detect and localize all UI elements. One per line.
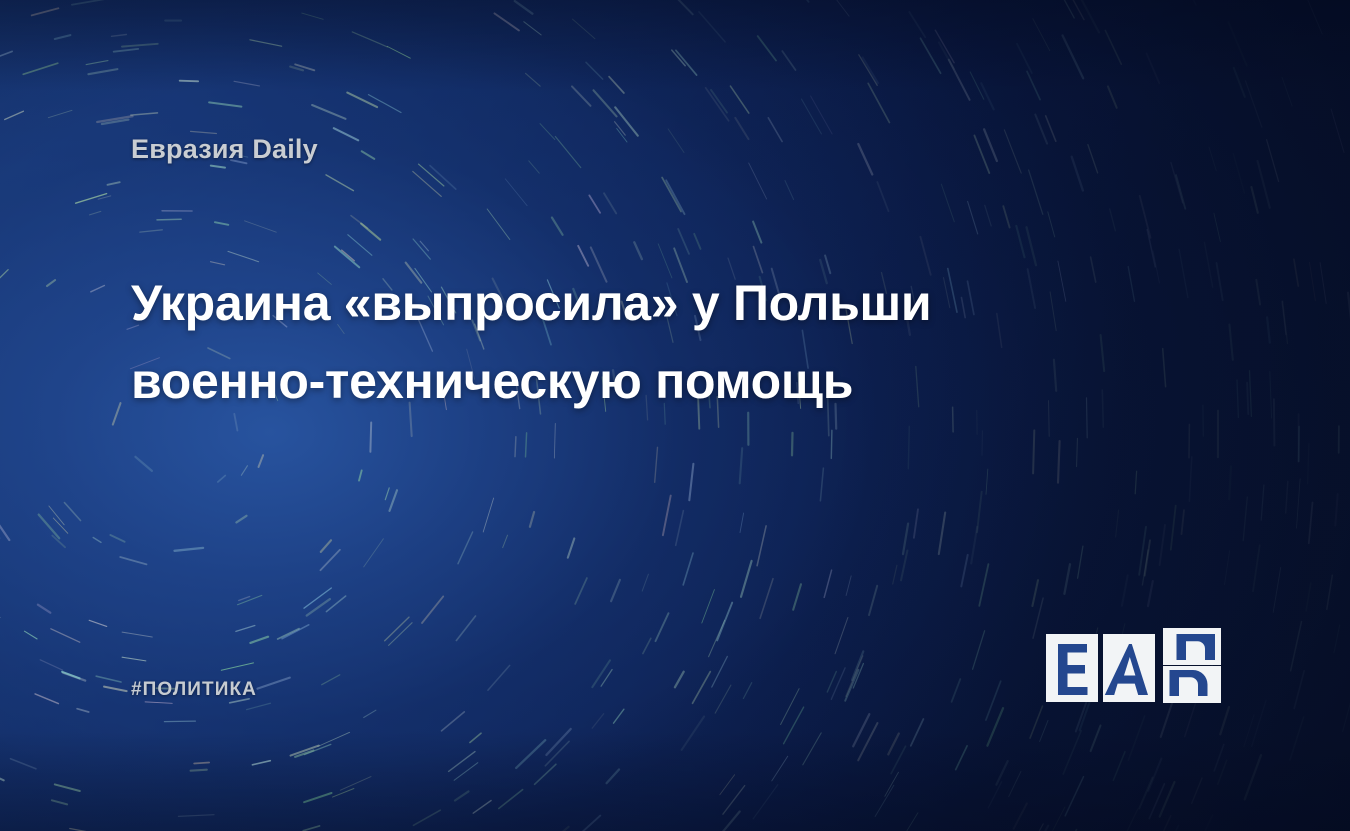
headline-line-1: Украина «выпросила» у Польши bbox=[131, 264, 1081, 342]
logo-tile-d-top bbox=[1163, 628, 1221, 665]
logo-tile-e bbox=[1046, 634, 1098, 702]
brand-name: Евразия Daily bbox=[131, 134, 318, 165]
share-card: Евразия Daily Украина «выпросила» у Поль… bbox=[0, 0, 1350, 831]
ead-logo[interactable] bbox=[1045, 624, 1225, 706]
headline: Украина «выпросила» у Польши военно-техн… bbox=[131, 264, 1081, 420]
logo-tile-d-bottom bbox=[1163, 666, 1221, 703]
card-content: Евразия Daily Украина «выпросила» у Поль… bbox=[0, 0, 1350, 831]
logo-tile-a bbox=[1103, 634, 1155, 702]
headline-line-2: военно-техническую помощь bbox=[131, 342, 1081, 420]
category-tag[interactable]: #ПОЛИТИКА bbox=[131, 679, 257, 701]
